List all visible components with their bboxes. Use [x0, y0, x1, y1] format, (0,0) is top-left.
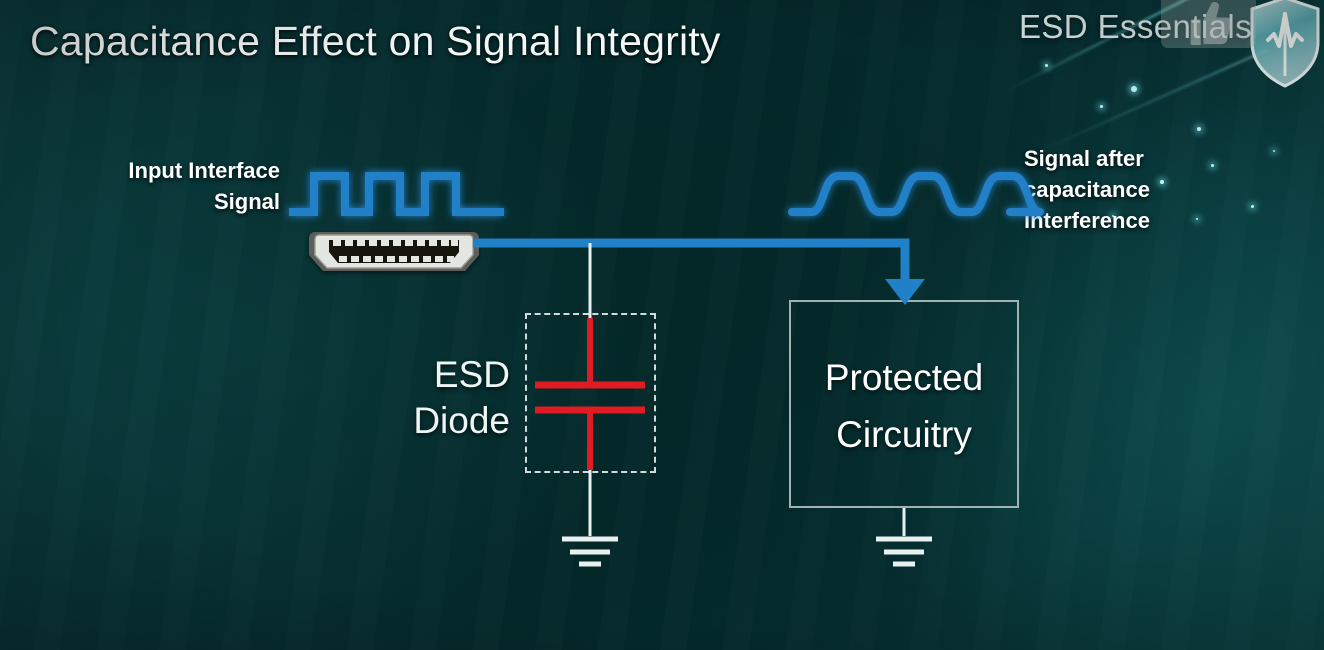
- capacitor-symbol-icon: [535, 318, 645, 470]
- arrow-down-icon: [885, 279, 925, 305]
- slide-canvas: Capacitance Effect on Signal Integrity E…: [0, 0, 1324, 650]
- hdmi-connector-icon: [309, 232, 479, 271]
- circuit-schematic: [0, 0, 1324, 650]
- output-waveform: [792, 176, 1040, 212]
- signal-trace: [473, 243, 925, 305]
- ground-symbol-icon-right: [876, 539, 932, 564]
- ground-symbol-icon-left: [562, 539, 618, 564]
- input-waveform: [289, 176, 504, 212]
